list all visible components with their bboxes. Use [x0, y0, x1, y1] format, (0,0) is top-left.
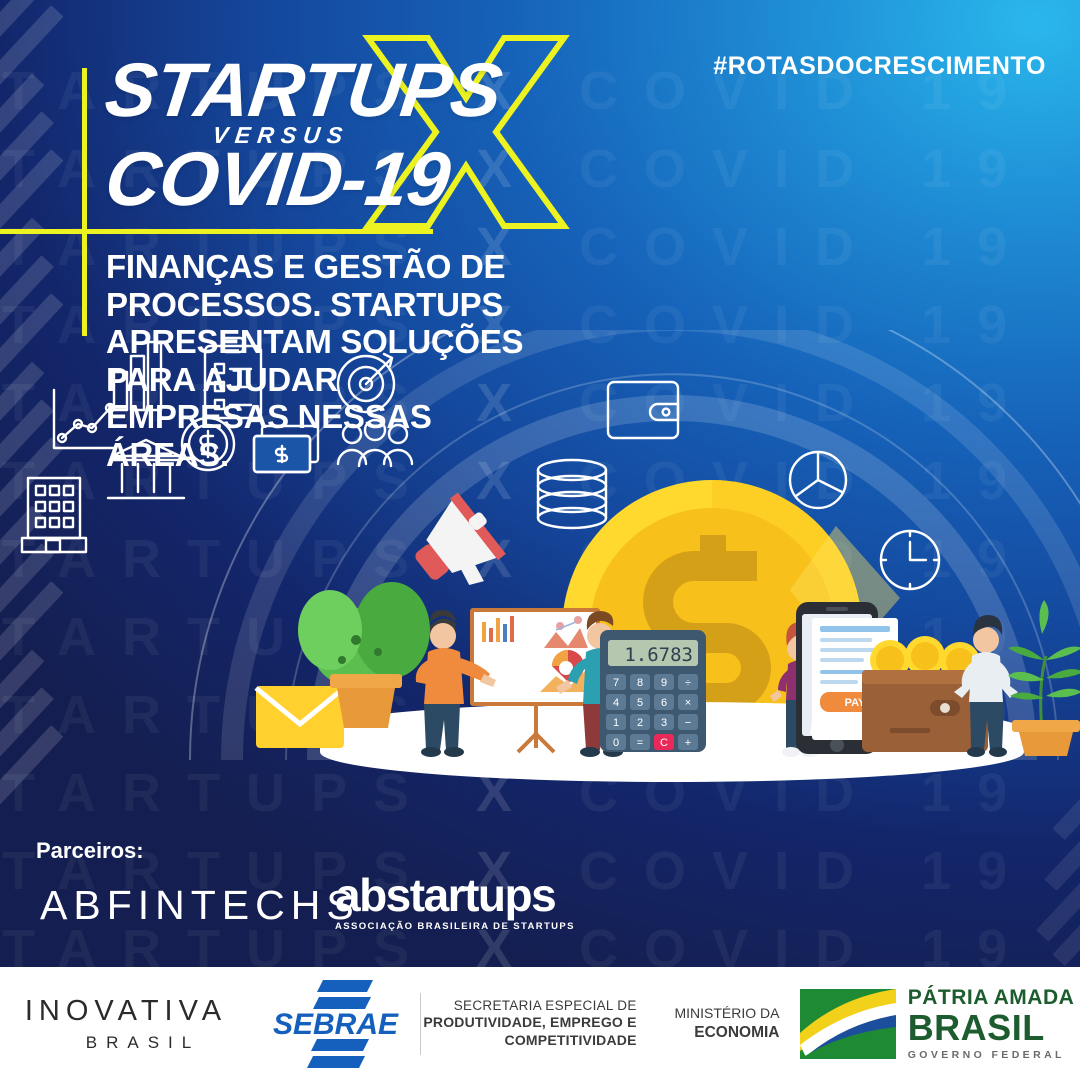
footer-patria-amada-brasil[interactable]: PÁTRIA AMADA BRASIL GOVERNO FEDERAL [797, 967, 1077, 1080]
headline-covid: COVID-19 [102, 145, 505, 215]
stripe-bar [0, 149, 64, 254]
brazil-flag-mark [800, 989, 896, 1059]
ministerio-line2: ECONOMIA [674, 1023, 779, 1042]
stripe-bar [0, 74, 44, 159]
stripe-bar [1044, 805, 1080, 891]
calculator-key-8[interactable]: 8 [637, 677, 643, 689]
calculator-key-−[interactable]: − [685, 717, 691, 729]
envelope-icon [256, 686, 344, 748]
partner-logo-abfintechs[interactable]: ABFINTECHS [40, 882, 360, 929]
abstartups-tagline: ASSOCIAÇÃO BRASILEIRA DE STARTUPS [335, 921, 575, 932]
footer-ministerio[interactable]: MINISTÉRIO DA ECONOMIA [657, 967, 797, 1080]
sebrae-wordmark: SEBRAE [273, 1008, 399, 1041]
calculator-key-6[interactable]: 6 [661, 697, 667, 709]
stripe-bar [0, 111, 54, 206]
accent-rule-vertical [82, 68, 87, 336]
line-chart-icon [54, 390, 114, 448]
calculator: 1.6783 789÷456×123−0=C+ [600, 630, 706, 752]
footer-sebrae[interactable]: SEBRAE [252, 967, 420, 1080]
sebrae-logo: SEBRAE [261, 976, 411, 1072]
calculator-key-1[interactable]: 1 [613, 717, 619, 729]
calculator-key-2[interactable]: 2 [637, 717, 643, 729]
secretaria-line2: PRODUTIVIDADE, EMPREGO E [423, 1014, 636, 1032]
patria-line1: PÁTRIA AMADA [908, 987, 1075, 1008]
calculator-key-3[interactable]: 3 [661, 717, 667, 729]
pie-chart-icon [790, 452, 846, 508]
stripe-bar [1052, 889, 1080, 966]
abstartups-name: abstartups [335, 872, 575, 918]
partner-logo-abstartups[interactable]: abstartups ASSOCIAÇÃO BRASILEIRA DE STAR… [335, 872, 575, 932]
calculator-key-0[interactable]: 0 [613, 737, 619, 749]
hashtag-label: #ROTASDOCRESCIMENTO [713, 52, 1046, 81]
stripe-bar [0, 0, 54, 62]
calculator-key-4[interactable]: 4 [613, 697, 619, 709]
stripe-bar [0, 5, 64, 110]
coin-stack-icon [538, 460, 606, 528]
calculator-key-×[interactable]: × [685, 697, 691, 709]
secretaria-line3: COMPETITIVIDADE [423, 1032, 636, 1050]
headline-block: STARTUPS VERSUS COVID-19 [106, 56, 501, 215]
clock-icon [881, 531, 939, 589]
headline-startups: STARTUPS [102, 56, 505, 126]
ministerio-line1: MINISTÉRIO DA [674, 1005, 779, 1023]
patria-line2: BRASIL [908, 1010, 1075, 1046]
patria-line3: GOVERNO FEDERAL [908, 1050, 1075, 1061]
calculator-key-5[interactable]: 5 [637, 697, 643, 709]
footer-inovativa[interactable]: INOVATIVA BRASIL [0, 967, 252, 1080]
calculator-key-=[interactable]: = [637, 737, 643, 749]
inovativa-line2: BRASIL [59, 1034, 227, 1051]
poster-canvas: STARTUPS X COVID 19 STARTUPS X COVID 19 … [0, 0, 1080, 1080]
wallet-with-coins [862, 636, 988, 752]
calculator-key-÷[interactable]: ÷ [685, 677, 691, 689]
footer-logo-bar: INOVATIVA BRASIL SEBRAE SECRETARIA ESPEC… [0, 967, 1080, 1080]
calculator-key-C[interactable]: C [660, 737, 668, 749]
stripe-bar [0, 0, 44, 14]
secretaria-line1: SECRETARIA ESPECIAL DE [423, 998, 636, 1015]
inovativa-line1: INOVATIVA [25, 997, 227, 1026]
calculator-key-7[interactable]: 7 [613, 677, 619, 689]
partners-label: Parceiros: [36, 838, 144, 864]
calculator-display: 1.6783 [624, 644, 693, 666]
office-building-icon [22, 478, 86, 552]
stripe-bar [1036, 847, 1080, 942]
footer-secretaria[interactable]: SECRETARIA ESPECIAL DE PRODUTIVIDADE, EM… [421, 967, 657, 1080]
calculator-key-+[interactable]: + [685, 737, 691, 749]
calculator-key-9[interactable]: 9 [661, 677, 667, 689]
subtitle-text: FINANÇAS E GESTÃO DE PROCESSOS. STARTUPS… [106, 248, 526, 474]
